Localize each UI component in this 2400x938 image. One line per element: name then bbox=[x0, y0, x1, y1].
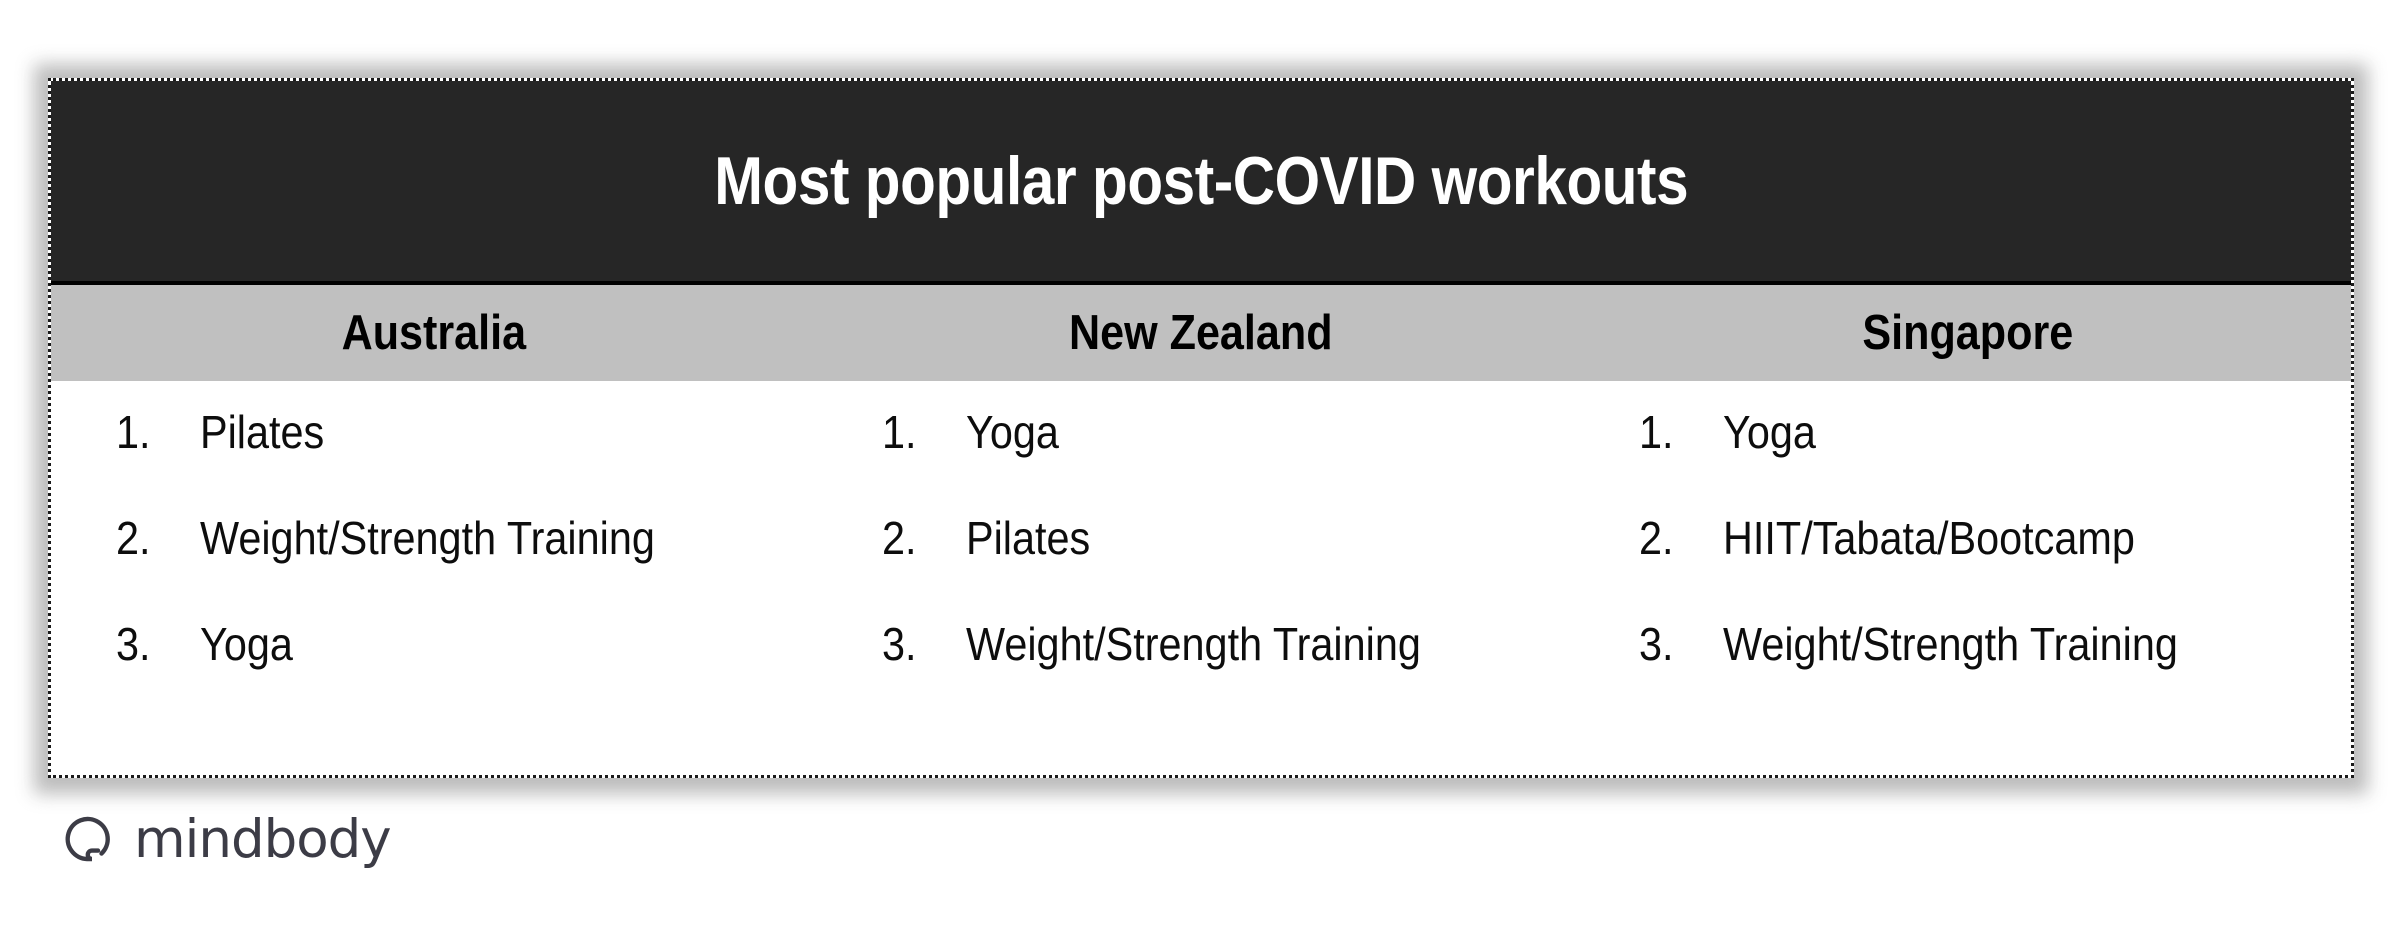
mindbody-ring-icon bbox=[60, 812, 114, 866]
rank-number: 2. bbox=[1639, 511, 1715, 565]
rank-number: 1. bbox=[882, 405, 958, 459]
list-item: 2. Pilates bbox=[882, 511, 1594, 617]
rank-label: Pilates bbox=[200, 405, 324, 459]
rank-label: Yoga bbox=[1723, 405, 1816, 459]
rank-number: 1. bbox=[1639, 405, 1715, 459]
mindbody-logo: mindbody bbox=[60, 812, 391, 866]
list-item: 2. Weight/Strength Training bbox=[116, 511, 828, 617]
column-body-australia: 1. Pilates 2. Weight/Strength Training 3… bbox=[51, 405, 828, 775]
column-body-singapore: 1. Yoga 2. HIIT/Tabata/Bootcamp 3. Weigh… bbox=[1594, 405, 2351, 775]
table-body-row: 1. Pilates 2. Weight/Strength Training 3… bbox=[51, 381, 2351, 775]
rank-label: Pilates bbox=[966, 511, 1090, 565]
rank-label: HIIT/Tabata/Bootcamp bbox=[1723, 511, 2135, 565]
list-item: 2. HIIT/Tabata/Bootcamp bbox=[1639, 511, 2351, 617]
rank-number: 3. bbox=[882, 617, 958, 671]
rank-label: Yoga bbox=[200, 617, 293, 671]
rank-label: Yoga bbox=[966, 405, 1059, 459]
rank-label: Weight/Strength Training bbox=[200, 511, 655, 565]
rank-number: 1. bbox=[116, 405, 192, 459]
rank-number: 2. bbox=[882, 511, 958, 565]
list-item: 1. Yoga bbox=[882, 405, 1594, 511]
rank-label: Weight/Strength Training bbox=[1723, 617, 2178, 671]
list-item: 3. Weight/Strength Training bbox=[1639, 617, 2351, 723]
column-header-label: Australia bbox=[342, 305, 527, 361]
rank-number: 2. bbox=[116, 511, 192, 565]
list-item: 1. Pilates bbox=[116, 405, 828, 511]
table-title-bar: Most popular post-COVID workouts bbox=[51, 81, 2351, 285]
workout-ranking-table: Most popular post-COVID workouts Austral… bbox=[48, 78, 2354, 778]
column-header-new-zealand: New Zealand bbox=[818, 285, 1585, 381]
column-header-label: New Zealand bbox=[1069, 305, 1333, 361]
column-header-australia: Australia bbox=[51, 285, 818, 381]
table-header-row: Australia New Zealand Singapore bbox=[51, 285, 2351, 381]
column-header-singapore: Singapore bbox=[1584, 285, 2351, 381]
list-item: 1. Yoga bbox=[1639, 405, 2351, 511]
column-header-label: Singapore bbox=[1862, 305, 2073, 361]
list-item: 3. Weight/Strength Training bbox=[882, 617, 1594, 723]
rank-number: 3. bbox=[1639, 617, 1715, 671]
table-title: Most popular post-COVID workouts bbox=[714, 142, 1688, 220]
mindbody-wordmark: mindbody bbox=[134, 813, 391, 866]
column-body-new-zealand: 1. Yoga 2. Pilates 3. Weight/Strength Tr… bbox=[828, 405, 1594, 775]
rank-number: 3. bbox=[116, 617, 192, 671]
list-item: 3. Yoga bbox=[116, 617, 828, 723]
rank-label: Weight/Strength Training bbox=[966, 617, 1421, 671]
